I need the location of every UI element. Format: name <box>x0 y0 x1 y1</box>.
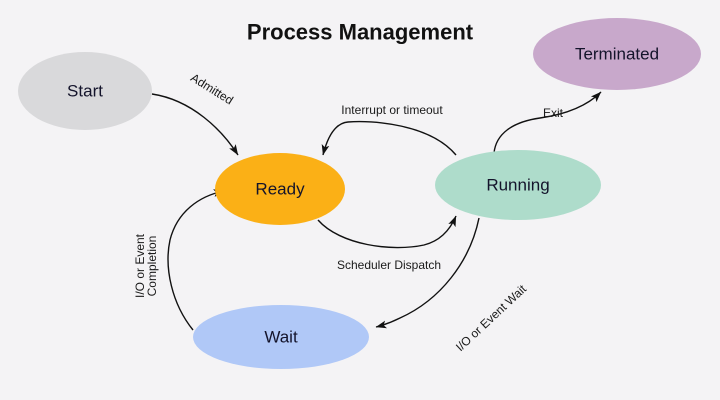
transition-io-or-event-completion: I/O or Event Completion <box>133 191 224 330</box>
edge-path-scheduler-dispatch <box>318 216 456 248</box>
transition-exit: Exit <box>494 92 601 153</box>
process-state-diagram: Process Management Admitted Interrupt or… <box>0 0 720 400</box>
edge-path-exit <box>494 92 601 153</box>
state-label-running: Running <box>486 176 549 195</box>
edge-path-io-or-event-wait <box>376 218 479 327</box>
state-label-terminated: Terminated <box>575 45 659 64</box>
state-label-start: Start <box>67 82 103 101</box>
edge-label-io-or-event-completion-line-2: Completion <box>145 236 159 297</box>
state-label-wait: Wait <box>264 328 298 347</box>
state-node-running[interactable]: Running <box>435 150 601 220</box>
state-node-start[interactable]: Start <box>18 52 152 130</box>
transition-admitted: Admitted <box>152 71 238 155</box>
state-node-wait[interactable]: Wait <box>193 305 369 369</box>
edge-path-io-or-event-completion <box>168 191 224 330</box>
edge-label-admitted: Admitted <box>188 71 236 108</box>
transition-scheduler-dispatch: Scheduler Dispatch <box>318 216 456 272</box>
edge-label-scheduler-dispatch: Scheduler Dispatch <box>337 258 441 272</box>
edge-path-interrupt-or-timeout <box>323 122 456 155</box>
transition-interrupt-or-timeout: Interrupt or timeout <box>323 103 456 155</box>
transition-io-or-event-wait: I/O or Event Wait <box>376 218 530 354</box>
edge-label-io-or-event-wait: I/O or Event Wait <box>453 281 530 354</box>
state-node-terminated[interactable]: Terminated <box>533 18 701 90</box>
state-node-ready[interactable]: Ready <box>215 153 345 225</box>
edge-label-exit: Exit <box>543 106 564 120</box>
edge-label-interrupt-or-timeout: Interrupt or timeout <box>341 103 443 117</box>
page-title: Process Management <box>247 20 474 45</box>
diagram-canvas: Process Management Admitted Interrupt or… <box>0 0 720 400</box>
state-label-ready: Ready <box>255 180 305 199</box>
